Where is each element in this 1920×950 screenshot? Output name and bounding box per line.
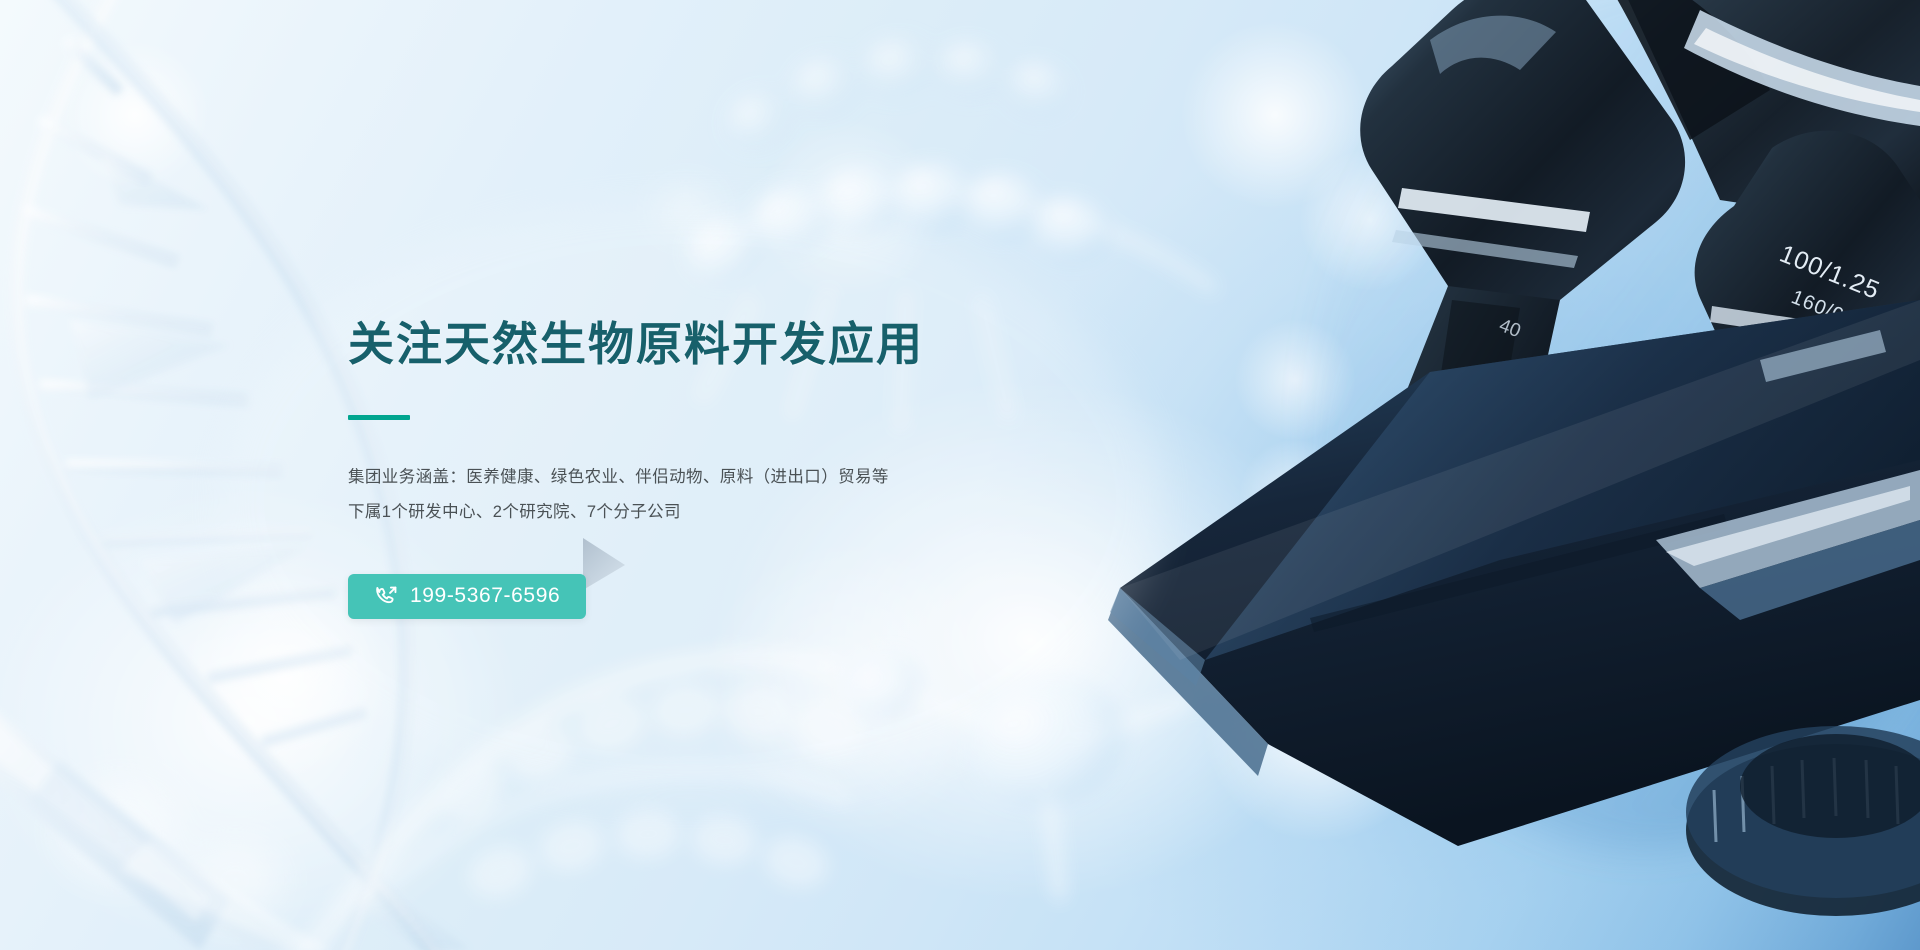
glass-prism [0, 690, 470, 950]
microscope: 40 100/1.25 160/0.17 100 [1108, 0, 1920, 916]
microscope-lens-label: 100/1.25 [1776, 240, 1884, 305]
microscope-lens-label: 40 [1496, 315, 1523, 342]
molecule-chain [838, 644, 1252, 900]
bokeh-light [1195, 600, 1445, 850]
microscope-lens-label: 160/0.17 [1788, 286, 1876, 339]
bokeh-light [60, 40, 210, 190]
bokeh-light [1240, 440, 1350, 550]
hero-description-line: 集团业务涵盖：医养健康、绿色农业、伴侣动物、原料（进出口）贸易等 [348, 460, 1068, 495]
hero-description-line: 下属1个研发中心、2个研究院、7个分子公司 [348, 495, 1068, 530]
bokeh-light [1235, 320, 1355, 440]
bokeh-light [1180, 20, 1370, 210]
dna-double-helix [250, 657, 865, 950]
phone-forwarded-icon [374, 584, 399, 609]
phone-number: 199-5367-6596 [410, 585, 560, 608]
hero-banner: 40 100/1.25 160/0.17 100 [0, 0, 1920, 950]
bokeh-light [1300, 150, 1440, 290]
hero-content: 关注天然生物原料开发应用 集团业务涵盖：医养健康、绿色农业、伴侣动物、原料（进出… [348, 318, 1068, 619]
accent-divider [348, 415, 410, 420]
bokeh-light [760, 120, 940, 300]
microscope-lens-label: 100 [1768, 405, 1805, 436]
phone-cta-button[interactable]: 199-5367-6596 [348, 574, 586, 619]
page-title: 关注天然生物原料开发应用 [348, 318, 1068, 371]
hero-description: 集团业务涵盖：医养健康、绿色农业、伴侣动物、原料（进出口）贸易等 下属1个研发中… [348, 460, 1068, 530]
